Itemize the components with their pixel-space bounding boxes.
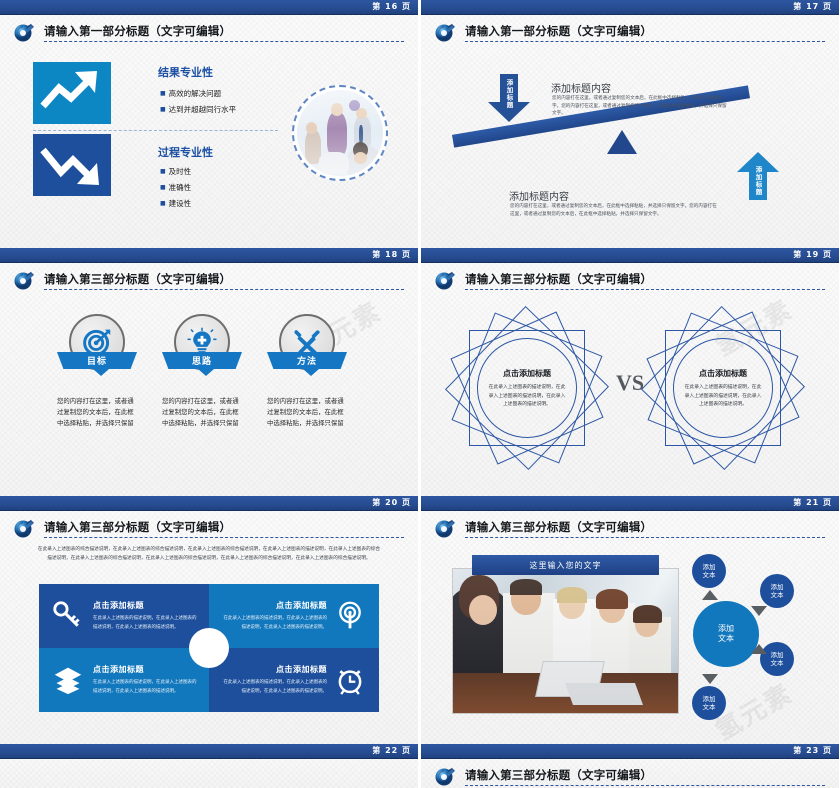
alarm-clock-icon — [335, 665, 365, 695]
pillar-ribbon: 方法 — [267, 352, 347, 369]
bullet-item: 高效的解决问题 — [160, 88, 221, 99]
brand-logo-icon — [432, 764, 458, 788]
node-center[interactable]: 添加 文本 — [693, 601, 759, 667]
pillar-item-2[interactable]: 思路 — [174, 314, 230, 370]
title-underline — [44, 41, 404, 42]
slide-20[interactable]: 第 20 页 请输入第三部分标题（文字可编辑） 在此录入上述图表的综合描述说明，… — [0, 496, 418, 744]
trend-down-arrow-icon — [33, 134, 111, 196]
quadrant-grid: 点击添加标题 在此录入上述图表的描述说明，在此录入上述图表的描述说明，在此录入上… — [39, 584, 379, 712]
team-celebration-photo — [292, 85, 388, 181]
down-arrow-label: 添加标题 — [504, 79, 514, 109]
page-number-bar: 第 21 页 — [421, 496, 839, 511]
brand-logo-icon — [432, 20, 458, 45]
side-heading: 点击添加标题 — [659, 368, 787, 379]
trend-up-arrow-icon — [33, 62, 111, 124]
side-heading: 点击添加标题 — [463, 368, 591, 379]
page-number-label: 第 16 页 — [372, 1, 411, 12]
node-top[interactable]: 添加 文本 — [692, 554, 726, 588]
top-heading: 添加标题内容 — [551, 80, 611, 95]
bottom-heading: 添加标题内容 — [509, 188, 569, 203]
slide-title: 请输入第三部分标题（文字可编辑） — [465, 271, 652, 287]
pillar-label: 方法 — [297, 354, 317, 367]
photo-caption-bar: 这里输入您的文字 — [472, 555, 659, 575]
brand-logo-icon — [11, 268, 37, 293]
page-number-bar: 第 22 页 — [0, 744, 418, 759]
ribbon-tail — [303, 369, 319, 376]
page-number-label: 第 17 页 — [793, 1, 832, 12]
page-number-label: 第 20 页 — [372, 497, 411, 508]
arrow-down-icon — [751, 606, 767, 616]
signal-tower-icon — [335, 601, 365, 631]
slide-deck-grid: 第 16 页 请输入第一部分标题（文字可编辑） — [0, 0, 840, 788]
layers-stack-icon — [53, 665, 83, 695]
bullet-item: 准确性 — [160, 182, 191, 193]
page-number-bar: 第 16 页 — [0, 0, 418, 15]
pillar-label: 思路 — [192, 354, 212, 367]
node-bottom[interactable]: 添加 文本 — [692, 686, 726, 720]
title-underline — [465, 41, 825, 42]
page-number-bar: 第 19 页 — [421, 248, 839, 263]
slide-header: 请输入第三部分标题（文字可编辑） — [421, 511, 839, 545]
brand-logo-icon — [11, 20, 37, 45]
arrow-up-icon — [751, 644, 767, 654]
pillar-body-3: 您的内容打在这里，或者通过复制您的文本后，在此框中选择粘贴，并选择只保留 — [267, 396, 347, 430]
pillar-ribbon: 思路 — [162, 352, 242, 369]
slide-header: 请输入第一部分标题（文字可编辑） — [0, 15, 418, 49]
intro-paragraph: 在此录入上述图表的综合描述说明，在此录入上述图表的综合描述说明，在此录入上述图表… — [36, 546, 382, 563]
page-number-bar: 第 17 页 — [421, 0, 839, 15]
page-number-label: 第 23 页 — [793, 745, 832, 756]
slide-16[interactable]: 第 16 页 请输入第一部分标题（文字可编辑） — [0, 0, 418, 248]
bottom-body: 您的内容打在这里，或者通过复制您的文本后，在此框中选择粘贴，并选择只保留文字。您… — [510, 203, 718, 218]
slide-23[interactable]: 第 23 页 请输入第三部分标题（文字可编辑） 您的内容打在这里，或者通过复制您… — [421, 744, 839, 788]
bullet-item: 及时性 — [160, 166, 191, 177]
page-number-bar: 第 23 页 — [421, 744, 839, 759]
top-body: 您的内容打在这里，或者通过复制您的文本后，在此框中选择粘贴，并选择只保留文字。您… — [552, 95, 730, 118]
center-dot — [189, 628, 229, 668]
bullet-item: 达到并超越同行水平 — [160, 104, 236, 115]
arrow-down-icon — [702, 674, 718, 684]
slide-title: 请输入第一部分标题（文字可编辑） — [465, 23, 652, 39]
quadrant-card-3[interactable]: 点击添加标题 在此录入上述图表的描述说明，在此录入上述图表的描述说明，在此录入上… — [39, 648, 209, 712]
slide-22[interactable]: 第 22 页 — [0, 744, 418, 788]
card-heading: 点击添加标题 — [223, 600, 327, 611]
key-icon — [53, 601, 83, 631]
slide-title: 请输入第一部分标题（文字可编辑） — [44, 23, 231, 39]
photo-caption: 这里输入您的文字 — [530, 560, 602, 571]
card-body: 在此录入上述图表的描述说明，在此录入上述图表的描述说明，在此录入上述图表的描述说… — [93, 615, 197, 631]
card-heading: 点击添加标题 — [93, 600, 197, 611]
page-number-label: 第 21 页 — [793, 497, 832, 508]
starburst-left[interactable]: 点击添加标题 在此录入上述图表的描述说明，在此录入上述图表的描述说明，在此录入上… — [463, 324, 591, 452]
pillar-body-1: 您的内容打在这里，或者通过复制您的文本后，在此框中选择粘贴，并选择只保留 — [57, 396, 137, 430]
slide-header: 请输入第三部分标题（文字可编辑） — [421, 263, 839, 297]
title-underline — [465, 537, 825, 538]
arrow-up-icon — [702, 590, 718, 600]
starburst-right[interactable]: 点击添加标题 在此录入上述图表的描述说明，在此录入上述图表的描述说明，在此录入上… — [659, 324, 787, 452]
title-underline — [44, 289, 404, 290]
node-upper-right[interactable]: 添加 文本 — [760, 574, 794, 608]
brand-logo-icon — [432, 516, 458, 541]
fulcrum-triangle — [607, 130, 637, 154]
slide-title: 请输入第三部分标题（文字可编辑） — [465, 519, 652, 535]
pillar-item-1[interactable]: 目标 — [69, 314, 125, 370]
side-body: 在此录入上述图表的描述说明，在此录入上述图表的描述说明，在此录入上述图表的描述说… — [487, 384, 567, 410]
title-underline — [465, 785, 825, 786]
block-heading-2: 过程专业性 — [158, 144, 213, 160]
pillar-label: 目标 — [87, 354, 107, 367]
section-divider — [33, 130, 278, 131]
side-body: 在此录入上述图表的描述说明，在此录入上述图表的描述说明，在此录入上述图表的描述说… — [683, 384, 763, 410]
page-number-label: 第 22 页 — [372, 745, 411, 756]
up-arrow-label: 添加标题 — [753, 166, 763, 196]
card-heading: 点击添加标题 — [223, 664, 327, 675]
card-body: 在此录入上述图表的描述说明，在此录入上述图表的描述说明，在此录入上述图表的描述说… — [93, 679, 197, 695]
slide-19[interactable]: 第 19 页 请输入第三部分标题（文字可编辑） 氢元素 点击添加标题 在此录入上… — [421, 248, 839, 496]
brand-logo-icon — [432, 268, 458, 293]
card-body: 在此录入上述图表的描述说明，在此录入上述图表的描述说明，在此录入上述图表的描述说… — [223, 615, 327, 631]
title-underline — [44, 537, 404, 538]
block-heading-1: 结果专业性 — [158, 64, 213, 80]
quadrant-card-2[interactable]: 点击添加标题 在此录入上述图表的描述说明，在此录入上述图表的描述说明，在此录入上… — [209, 584, 379, 648]
slide-header: 请输入第三部分标题（文字可编辑） — [0, 263, 418, 297]
ribbon-tail — [198, 369, 214, 376]
slide-title: 请输入第三部分标题（文字可编辑） — [44, 519, 231, 535]
slide-header: 请输入第一部分标题（文字可编辑） — [421, 15, 839, 49]
card-body: 在此录入上述图表的描述说明，在此录入上述图表的描述说明，在此录入上述图表的描述说… — [223, 679, 327, 695]
pillar-item-3[interactable]: 方法 — [279, 314, 335, 370]
slide-21[interactable]: 第 21 页 请输入第三部分标题（文字可编辑） — [421, 496, 839, 744]
slide-18[interactable]: 第 18 页 请输入第三部分标题（文字可编辑） 氢元素 — [0, 248, 418, 496]
quadrant-card-1[interactable]: 点击添加标题 在此录入上述图表的描述说明，在此录入上述图表的描述说明，在此录入上… — [39, 584, 209, 648]
brand-logo-icon — [11, 516, 37, 541]
ribbon-tail — [93, 369, 109, 376]
business-team-meeting-photo — [452, 568, 679, 714]
quadrant-card-4[interactable]: 点击添加标题 在此录入上述图表的描述说明，在此录入上述图表的描述说明，在此录入上… — [209, 648, 379, 712]
slide-header: 请输入第三部分标题（文字可编辑） — [0, 511, 418, 545]
slide-title: 请输入第三部分标题（文字可编辑） — [465, 767, 652, 783]
page-number-bar: 第 18 页 — [0, 248, 418, 263]
title-underline — [465, 289, 825, 290]
slide-title: 请输入第三部分标题（文字可编辑） — [44, 271, 231, 287]
page-number-label: 第 19 页 — [793, 249, 832, 260]
slide-17[interactable]: 第 17 页 请输入第一部分标题（文字可编辑） 添加标题 添加标题 — [421, 0, 839, 248]
page-number-bar: 第 20 页 — [0, 496, 418, 511]
vs-label: VS — [616, 370, 644, 396]
bullet-item: 建设性 — [160, 198, 191, 209]
page-number-label: 第 18 页 — [372, 249, 411, 260]
slide-header: 请输入第三部分标题（文字可编辑） — [421, 759, 839, 788]
card-heading: 点击添加标题 — [93, 664, 197, 675]
pillar-ribbon: 目标 — [57, 352, 137, 369]
pillar-body-2: 您的内容打在这里，或者通过复制您的文本后，在此框中选择粘贴，并选择只保留 — [162, 396, 242, 430]
